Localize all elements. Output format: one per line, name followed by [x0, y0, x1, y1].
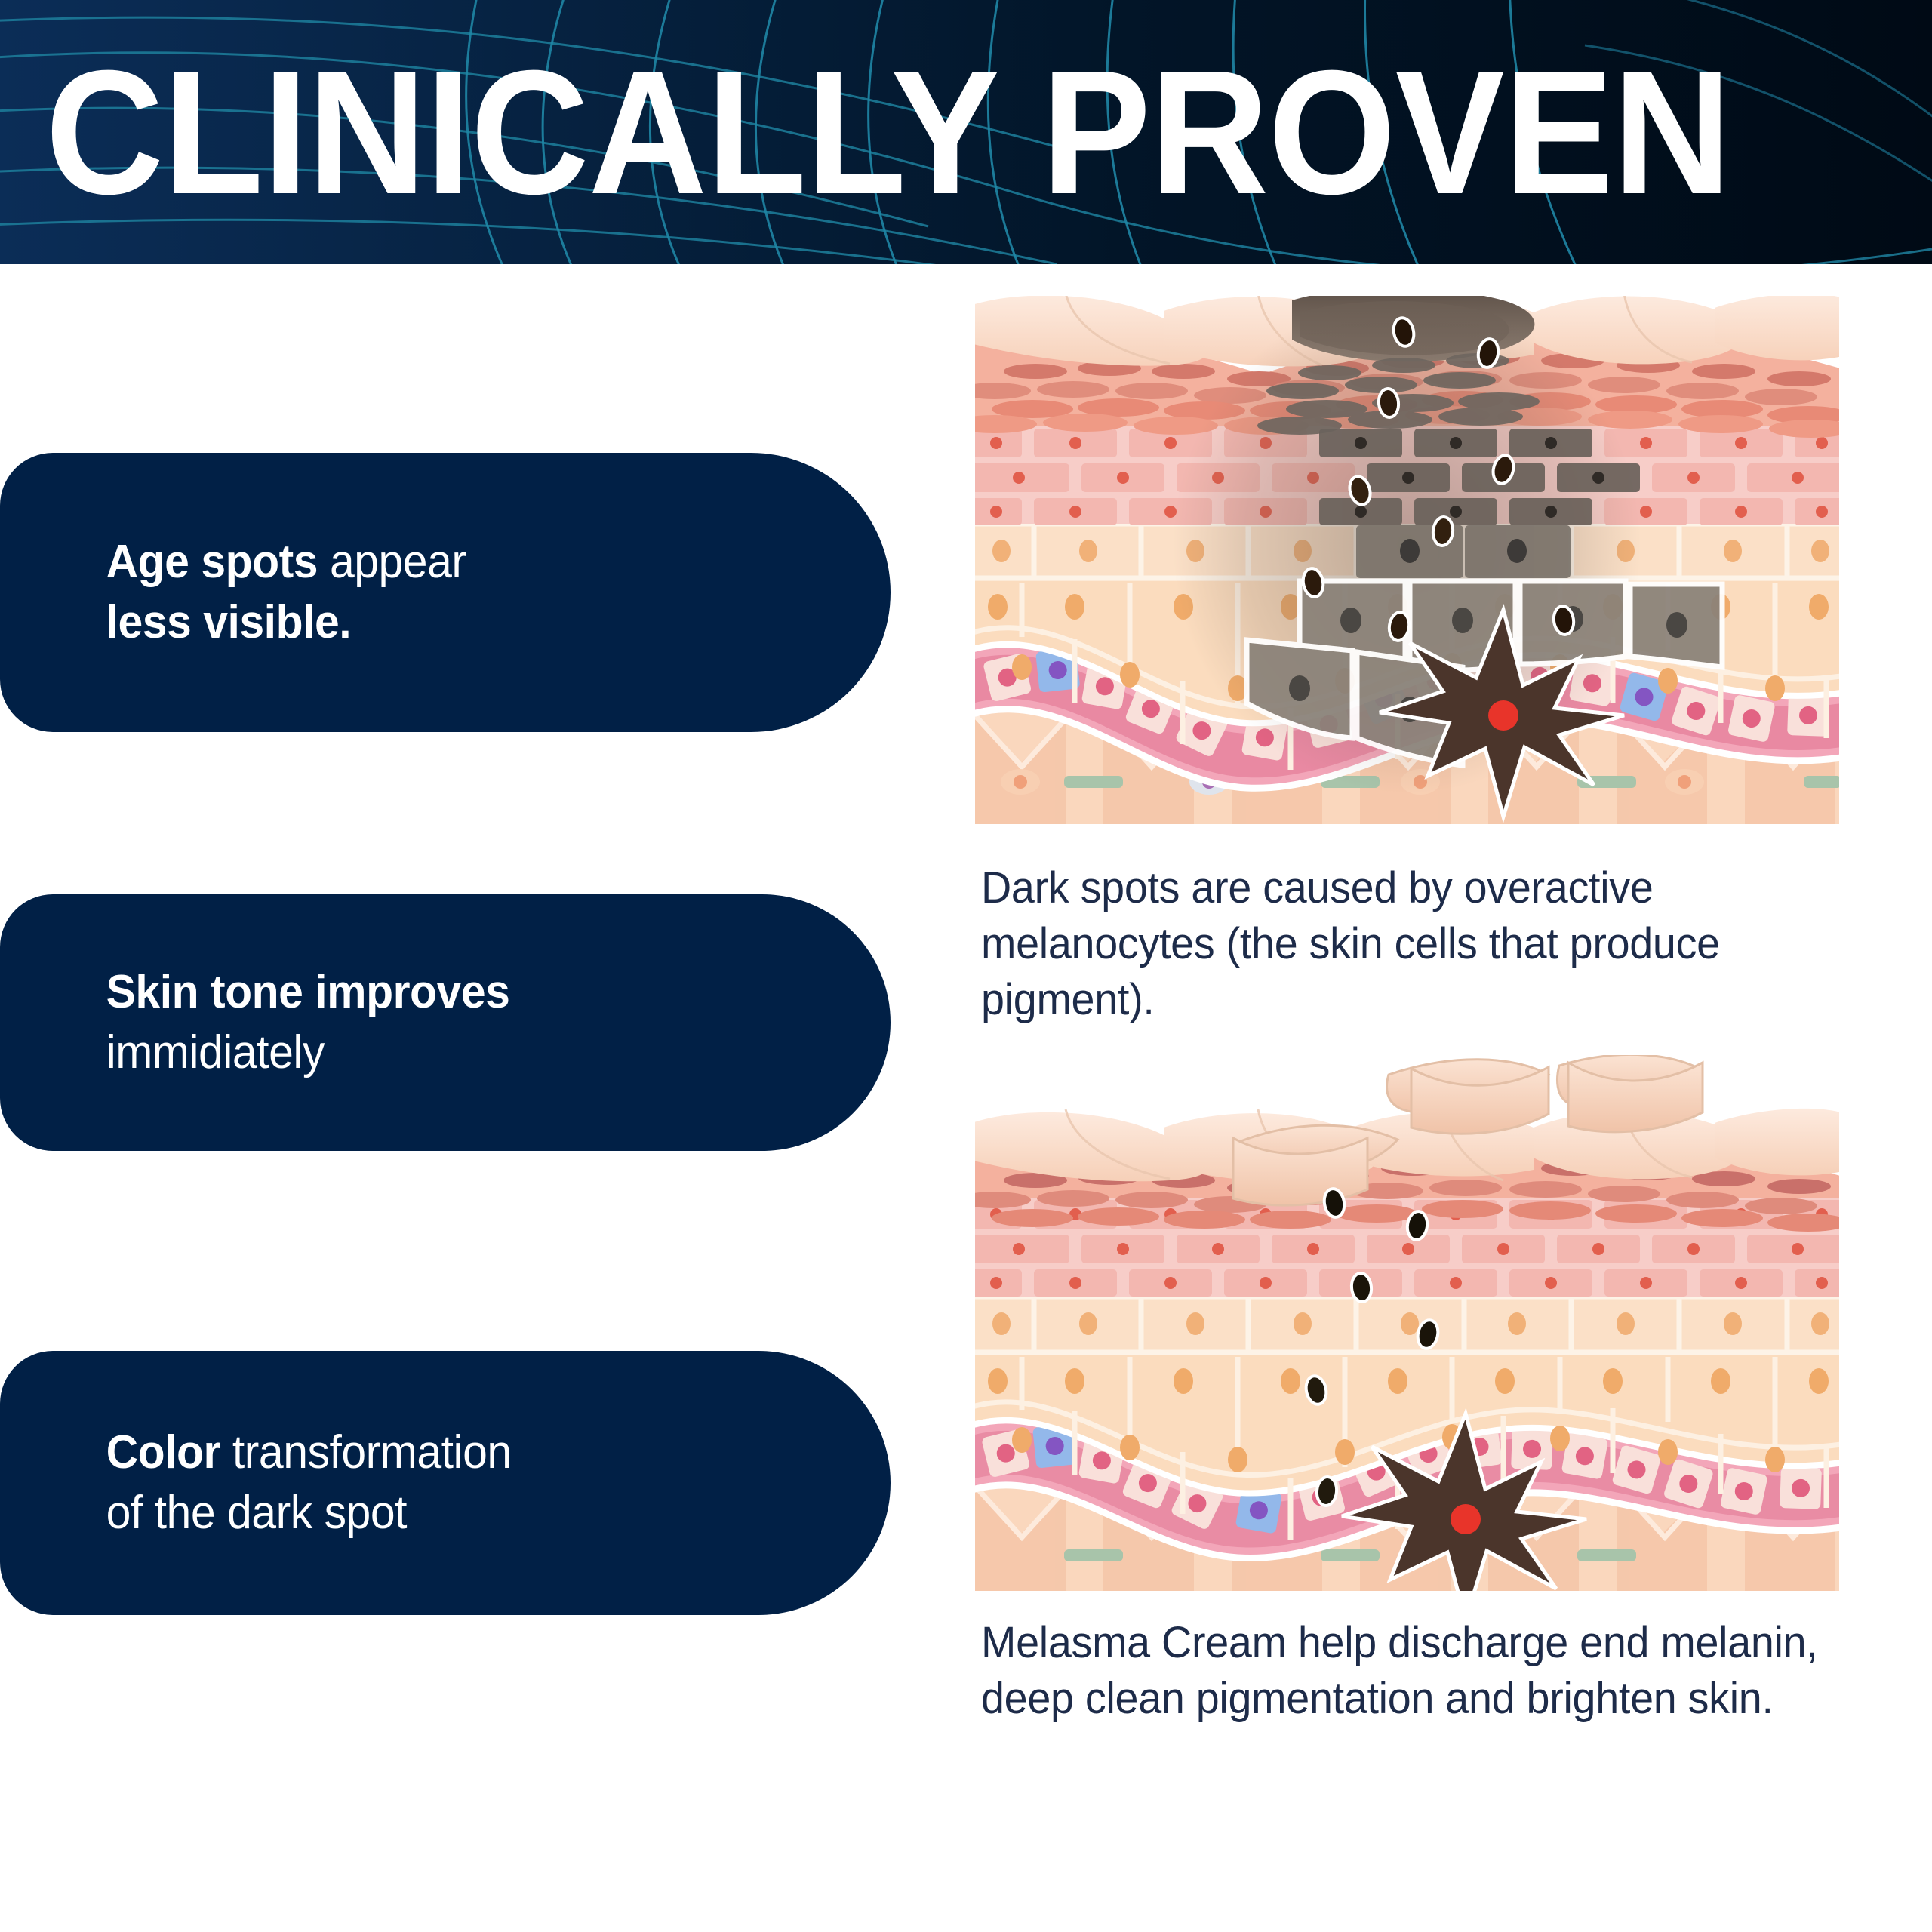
benefit-pill-color-transformation[interactable]: Color transformation of the dark spot	[0, 1351, 891, 1615]
skin-diagram-after-treatment	[975, 1055, 1839, 1591]
skin-cross-section-clean-icon	[975, 1055, 1839, 1591]
benefit-bold-1: Skin tone improves	[106, 966, 510, 1018]
benefit-regular-1: transformation	[220, 1426, 512, 1478]
benefit-bold-1: Color	[106, 1426, 220, 1478]
benefit-bold-1: Age spots	[106, 536, 318, 588]
benefit-pill-color-transformation-label: Color transformation of the dark spot	[0, 1423, 540, 1543]
benefit-bold-2: less visible.	[106, 596, 352, 648]
page-title: CLINICALLY PROVEN	[45, 21, 1772, 243]
melanocyte-nucleus	[1451, 1504, 1481, 1534]
benefit-pill-skin-tone-label: Skin tone improves immidiately	[0, 962, 538, 1083]
benefit-regular-1: appear	[318, 536, 466, 588]
skin-diagram-dark-spot	[975, 296, 1839, 824]
melanocyte-nucleus	[1488, 700, 1518, 731]
skin-cross-section-icon	[975, 296, 1839, 824]
benefit-regular-2: immidiately	[106, 1026, 325, 1078]
benefit-pill-skin-tone[interactable]: Skin tone improves immidiately	[0, 894, 891, 1151]
benefit-regular-2: of the dark spot	[106, 1487, 407, 1539]
benefit-pill-age-spots[interactable]: Age spots appear less visible.	[0, 453, 891, 732]
caption-melasma-cream: Melasma Cream help discharge end melanin…	[981, 1615, 1887, 1727]
caption-dark-spots: Dark spots are caused by overactive mela…	[981, 860, 1887, 1028]
header-banner: CLINICALLY PROVEN	[0, 0, 1932, 264]
benefit-pill-age-spots-label: Age spots appear less visible.	[0, 532, 495, 653]
